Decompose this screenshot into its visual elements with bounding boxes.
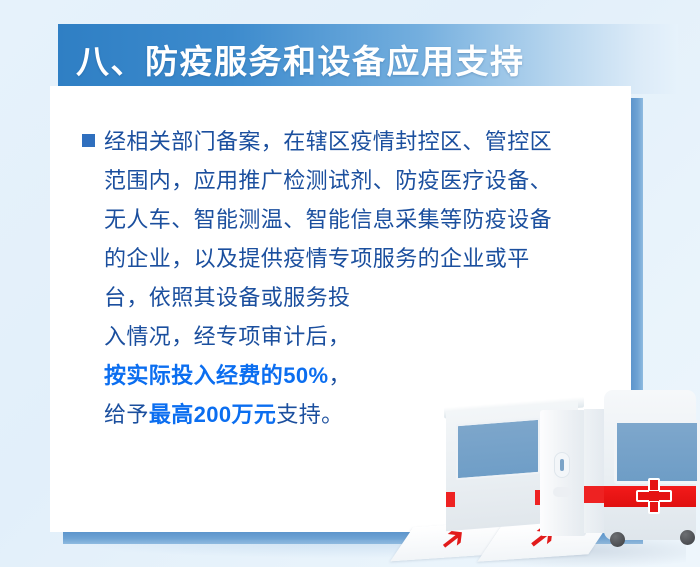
page-title: 八、防疫服务和设备应用支持 (76, 35, 525, 83)
paragraph-line-text: 无人车、智能测温、智能信息采集等防疫设备 (104, 207, 552, 232)
content-card: 经相关部门备案，在辖区疫情封控区、管控区 范围内，应用推广检测试剂、防疫医疗设备… (50, 86, 631, 532)
highlight-amount-text: 最高200万元 (149, 402, 277, 427)
mobile-medical-cabin-illustration: ➔ ➔ (418, 374, 700, 567)
highlight-amount-lead: 给予 (104, 402, 149, 427)
door-handle-slot (560, 459, 564, 471)
door-button (553, 487, 571, 497)
red-cross-center (649, 491, 659, 501)
title-banner: 八、防疫服务和设备应用支持 (58, 24, 678, 94)
poster-canvas: 八、防疫服务和设备应用支持 经相关部门备案，在辖区疫情封控区、管控区 范围内，应… (0, 0, 700, 567)
paragraph-line-text: 范围内，应用推广检测试剂、防疫医疗设备、 (104, 168, 552, 193)
highlight-percent-text: 按实际投入经费的50% (104, 363, 328, 388)
cabin-front-window (614, 420, 700, 484)
cabin-rear-window (456, 418, 540, 481)
paragraph-line-text: 入情况，经专项审计后， (104, 324, 350, 349)
highlight-percent-tail: ， (328, 363, 350, 388)
highlight-amount-tail: 支持。 (276, 402, 343, 427)
paragraph-line: 入情况，经专项审计后， (82, 317, 612, 356)
paragraph-line: 的企业，以及提供疫情专项服务的企业或平 (82, 239, 612, 278)
paragraph-line-text: 的企业，以及提供疫情专项服务的企业或平 (104, 246, 530, 271)
cabin-wheel (610, 532, 625, 547)
paragraph-line-text: 经相关部门备案，在辖区疫情封控区、管控区 (104, 129, 552, 154)
bullet-square-icon (82, 134, 95, 147)
red-cross-icon (636, 478, 672, 514)
cabin-wheel (680, 530, 695, 545)
paragraph-line: 经相关部门备案，在辖区疫情封控区、管控区 (82, 122, 612, 161)
paragraph-line-text: 台，依照其设备或服务投 (104, 285, 350, 310)
paragraph-line: 台，依照其设备或服务投 (82, 278, 612, 317)
paragraph-line: 无人车、智能测温、智能信息采集等防疫设备 (82, 200, 612, 239)
cabin-red-stripe (446, 492, 455, 507)
paragraph-line: 范围内，应用推广检测试剂、防疫医疗设备、 (82, 161, 612, 200)
